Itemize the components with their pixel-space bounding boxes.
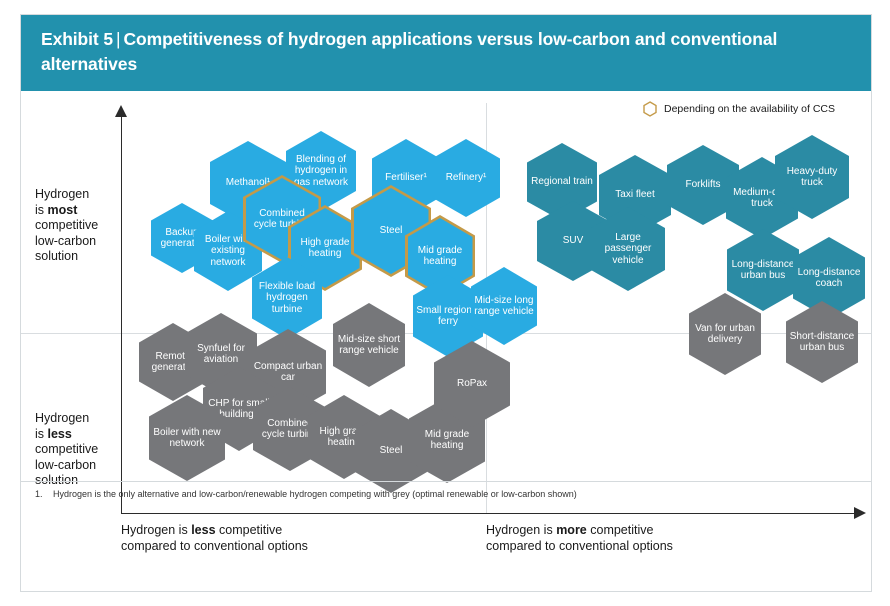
hexagon-label: Steel [378, 225, 405, 237]
y-bottom-line2b: less [48, 427, 72, 441]
hexagon-label: Synfuel for aviation [185, 343, 257, 366]
hexagon-label: Blending of hydrogen in gas network [286, 154, 356, 189]
hexagon-label: Heavy-duty truck [775, 166, 849, 189]
x-right-a: Hydrogen is [486, 523, 556, 537]
hexagon-refinery[interactable]: Refinery¹ [432, 139, 500, 217]
hexagon-label: Mid grade heating [408, 245, 473, 268]
footnote-number: 1. [35, 489, 53, 499]
y-bottom-line4: low-carbon [35, 458, 96, 472]
hexagon-label: Short-distance urban bus [786, 331, 858, 354]
y-top-line5: solution [35, 249, 78, 263]
hexagon-label: Mid grade heating [409, 429, 485, 452]
hexagon-label: Compact urban car [250, 361, 326, 384]
x-left-b: compared to conventional options [121, 539, 308, 553]
y-bottom-line2a: is [35, 427, 48, 441]
y-top-line2b: most [48, 203, 78, 217]
y-top-line4: low-carbon [35, 234, 96, 248]
hexagon-short-distance-urban-bus[interactable]: Short-distance urban bus [786, 301, 858, 383]
hexagon-label: Regional train [529, 176, 595, 188]
hexagon-mid-size-short-range-vehicle[interactable]: Mid-size short range vehicle [333, 303, 405, 387]
y-axis-label-bottom: Hydrogen is less competitive low-carbon … [35, 411, 125, 489]
y-bottom-line1: Hydrogen [35, 411, 89, 425]
y-axis-arrow-icon [115, 105, 127, 117]
hexagon-label: Boiler with new network [149, 427, 225, 450]
title-separator: | [113, 29, 123, 49]
x-right-bold: more [556, 523, 587, 537]
hexagon-label: Fertiliser¹ [383, 172, 429, 184]
hexagon-label: High grade heating [291, 237, 360, 260]
hexagon-label: SUV [561, 235, 586, 247]
hexagon-label: Refinery¹ [444, 172, 489, 184]
hexagon-label: Large passenger vehicle [591, 232, 665, 267]
x-axis-label-left: Hydrogen is less competitive compared to… [121, 523, 451, 554]
hexagon-van-for-urban-delivery[interactable]: Van for urban delivery [689, 293, 761, 375]
x-left-tail: competitive [216, 523, 283, 537]
x-right-b: compared to conventional options [486, 539, 673, 553]
exhibit-header: Exhibit 5|Competitiveness of hydrogen ap… [21, 15, 871, 91]
hexagon-label: Taxi fleet [613, 189, 656, 201]
title-text: Competitiveness of hydrogen applications… [41, 29, 777, 74]
x-axis-line [121, 513, 856, 514]
y-top-line1: Hydrogen [35, 187, 89, 201]
chart-plot-area: Depending on the availability of CCS Hyd… [21, 91, 871, 591]
exhibit-card: Exhibit 5|Competitiveness of hydrogen ap… [20, 14, 872, 592]
x-left-bold: less [191, 523, 215, 537]
footnote-divider [21, 481, 871, 482]
hexagon-label: Mid-size long range vehicle [471, 295, 537, 318]
legend: Depending on the availability of CCS [643, 101, 835, 117]
exhibit-figure: Exhibit 5|Competitiveness of hydrogen ap… [0, 0, 890, 606]
hexagon-label: Long-distance coach [793, 267, 865, 290]
x-right-tail: competitive [587, 523, 654, 537]
footnote-text: Hydrogen is the only alternative and low… [53, 489, 577, 499]
hexagon-label: Mid-size short range vehicle [333, 334, 405, 357]
hexagon-label: Long-distance urban bus [727, 259, 799, 282]
page-title: Exhibit 5|Competitiveness of hydrogen ap… [41, 27, 851, 77]
hexagon-label: Steel [378, 445, 405, 457]
x-axis-label-right: Hydrogen is more competitive compared to… [486, 523, 816, 554]
hexagon-label: Flexible load hydrogen turbine [252, 281, 322, 316]
hexagon-long-distance-urban-bus[interactable]: Long-distance urban bus [727, 229, 799, 311]
y-top-line2a: is [35, 203, 48, 217]
y-axis-label-top: Hydrogen is most competitive low-carbon … [35, 187, 125, 265]
y-top-line3: competitive [35, 218, 98, 232]
x-axis-arrow-icon [854, 507, 866, 519]
hexagon-label: Forklifts [684, 179, 723, 191]
x-left-a: Hydrogen is [121, 523, 191, 537]
hexagon-outline-icon [643, 101, 657, 117]
y-bottom-line3: competitive [35, 442, 98, 456]
footnote: 1.Hydrogen is the only alternative and l… [35, 489, 577, 499]
exhibit-number: Exhibit 5 [41, 29, 113, 49]
hexagon-label: RoPax [455, 378, 489, 390]
hexagon-label: Van for urban delivery [689, 323, 761, 346]
y-bottom-line5: solution [35, 473, 78, 487]
legend-label: Depending on the availability of CCS [664, 103, 835, 115]
